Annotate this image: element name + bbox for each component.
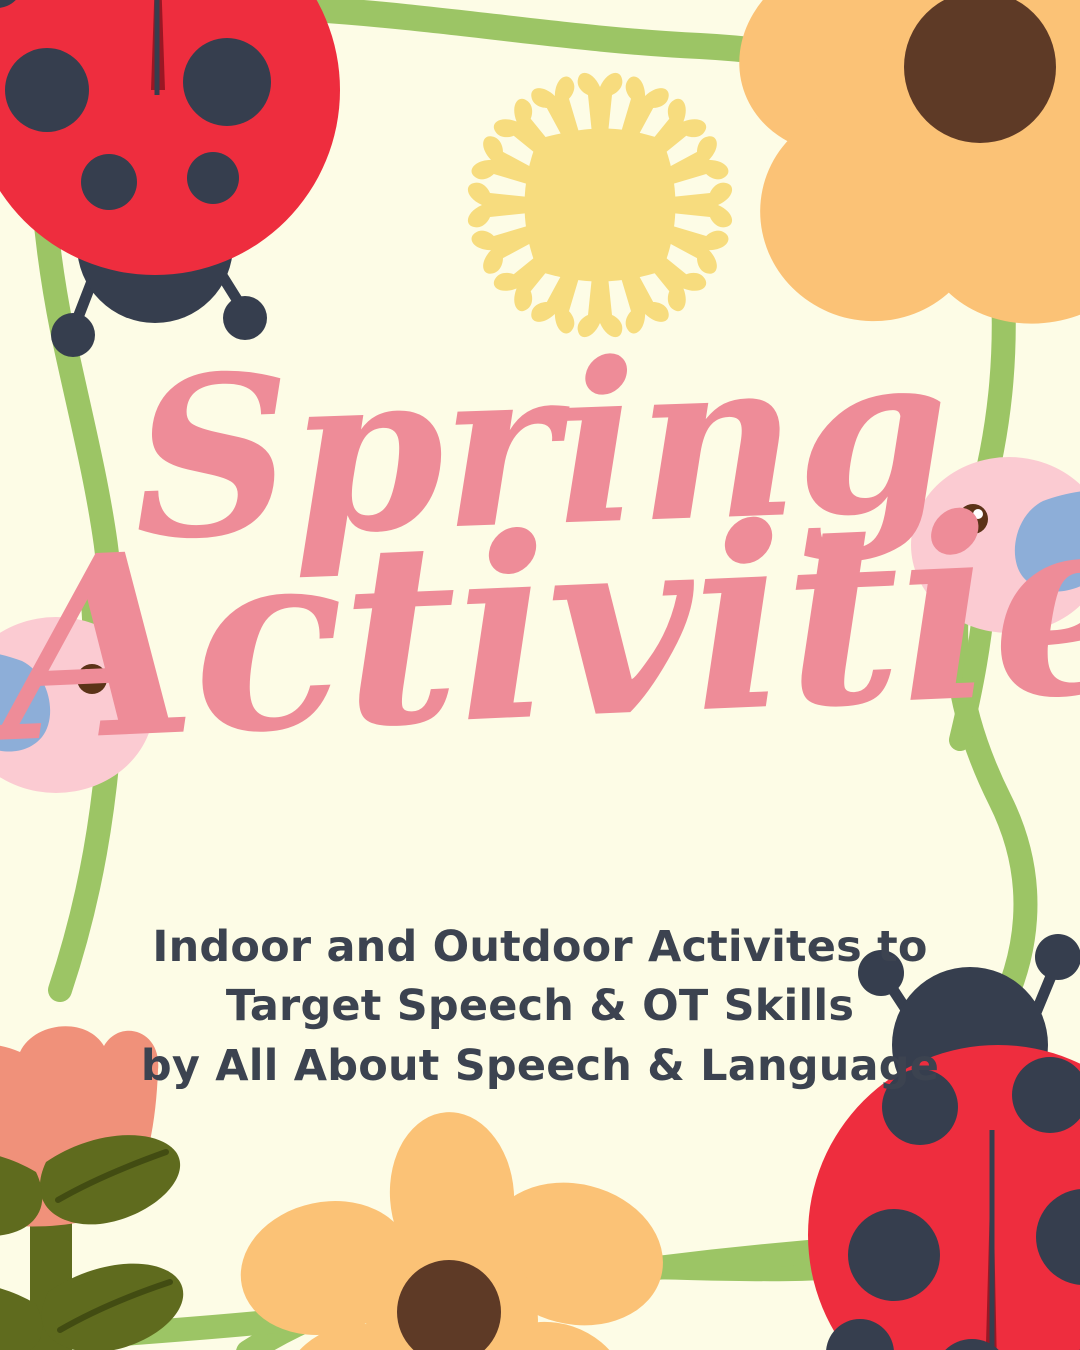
title-line-activities: Activities [0,490,1080,767]
subtitle-line-3: by All About Speech & Language [90,1037,990,1096]
subtitle-line-1: Indoor and Outdoor Activites to [90,918,990,977]
subtitle-line-2: Target Speech & OT Skills [90,977,990,1036]
text-layer: Spring Activities Indoor and Outdoor Act… [0,0,1080,1350]
subtitle: Indoor and Outdoor Activites to Target S… [90,918,990,1096]
page-title: Spring Activities [0,345,1080,743]
title-line-spring: Spring [0,326,1080,566]
poster-canvas: Spring Activities Indoor and Outdoor Act… [0,0,1080,1350]
